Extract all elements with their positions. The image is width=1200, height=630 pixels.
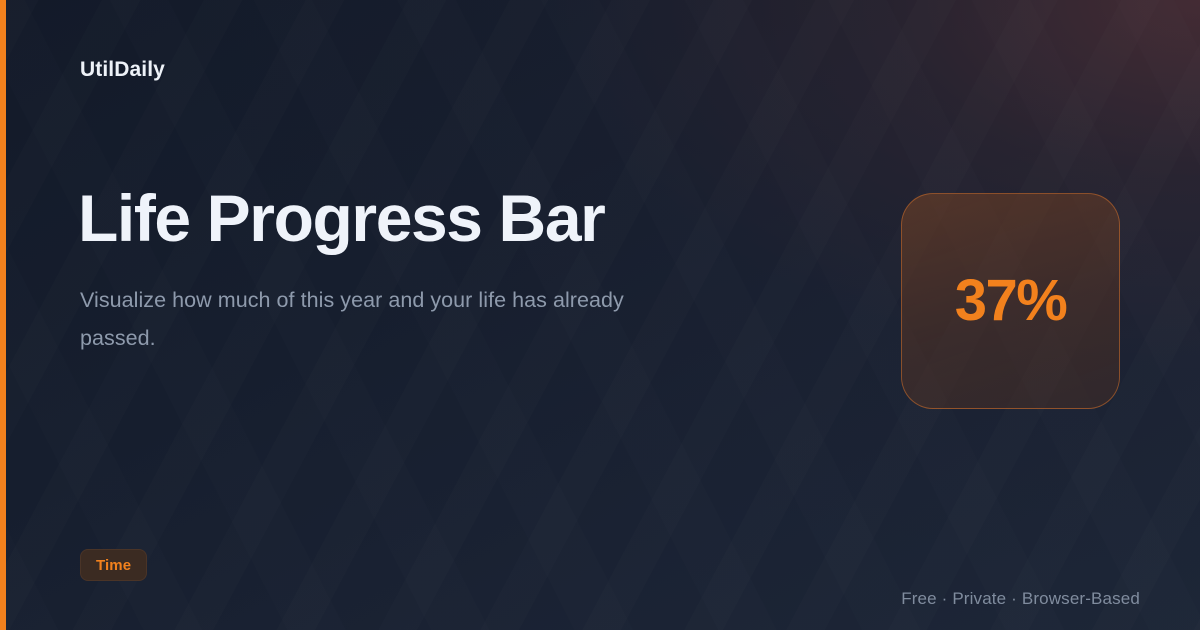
page-title: Life Progress Bar bbox=[78, 182, 858, 254]
og-preview-card: UtilDaily Life Progress Bar Visualize ho… bbox=[0, 0, 1200, 630]
tag-list: Time bbox=[80, 549, 147, 581]
progress-stat-card: 37% bbox=[901, 193, 1120, 409]
footer-note: Free · Private · Browser-Based bbox=[901, 589, 1140, 609]
accent-bar bbox=[0, 0, 6, 630]
tag-chip-time[interactable]: Time bbox=[80, 549, 147, 581]
brand-logo-text: UtilDaily bbox=[80, 58, 165, 82]
progress-percentage-value: 37% bbox=[955, 272, 1067, 330]
page-subtitle: Visualize how much of this year and your… bbox=[80, 281, 695, 357]
